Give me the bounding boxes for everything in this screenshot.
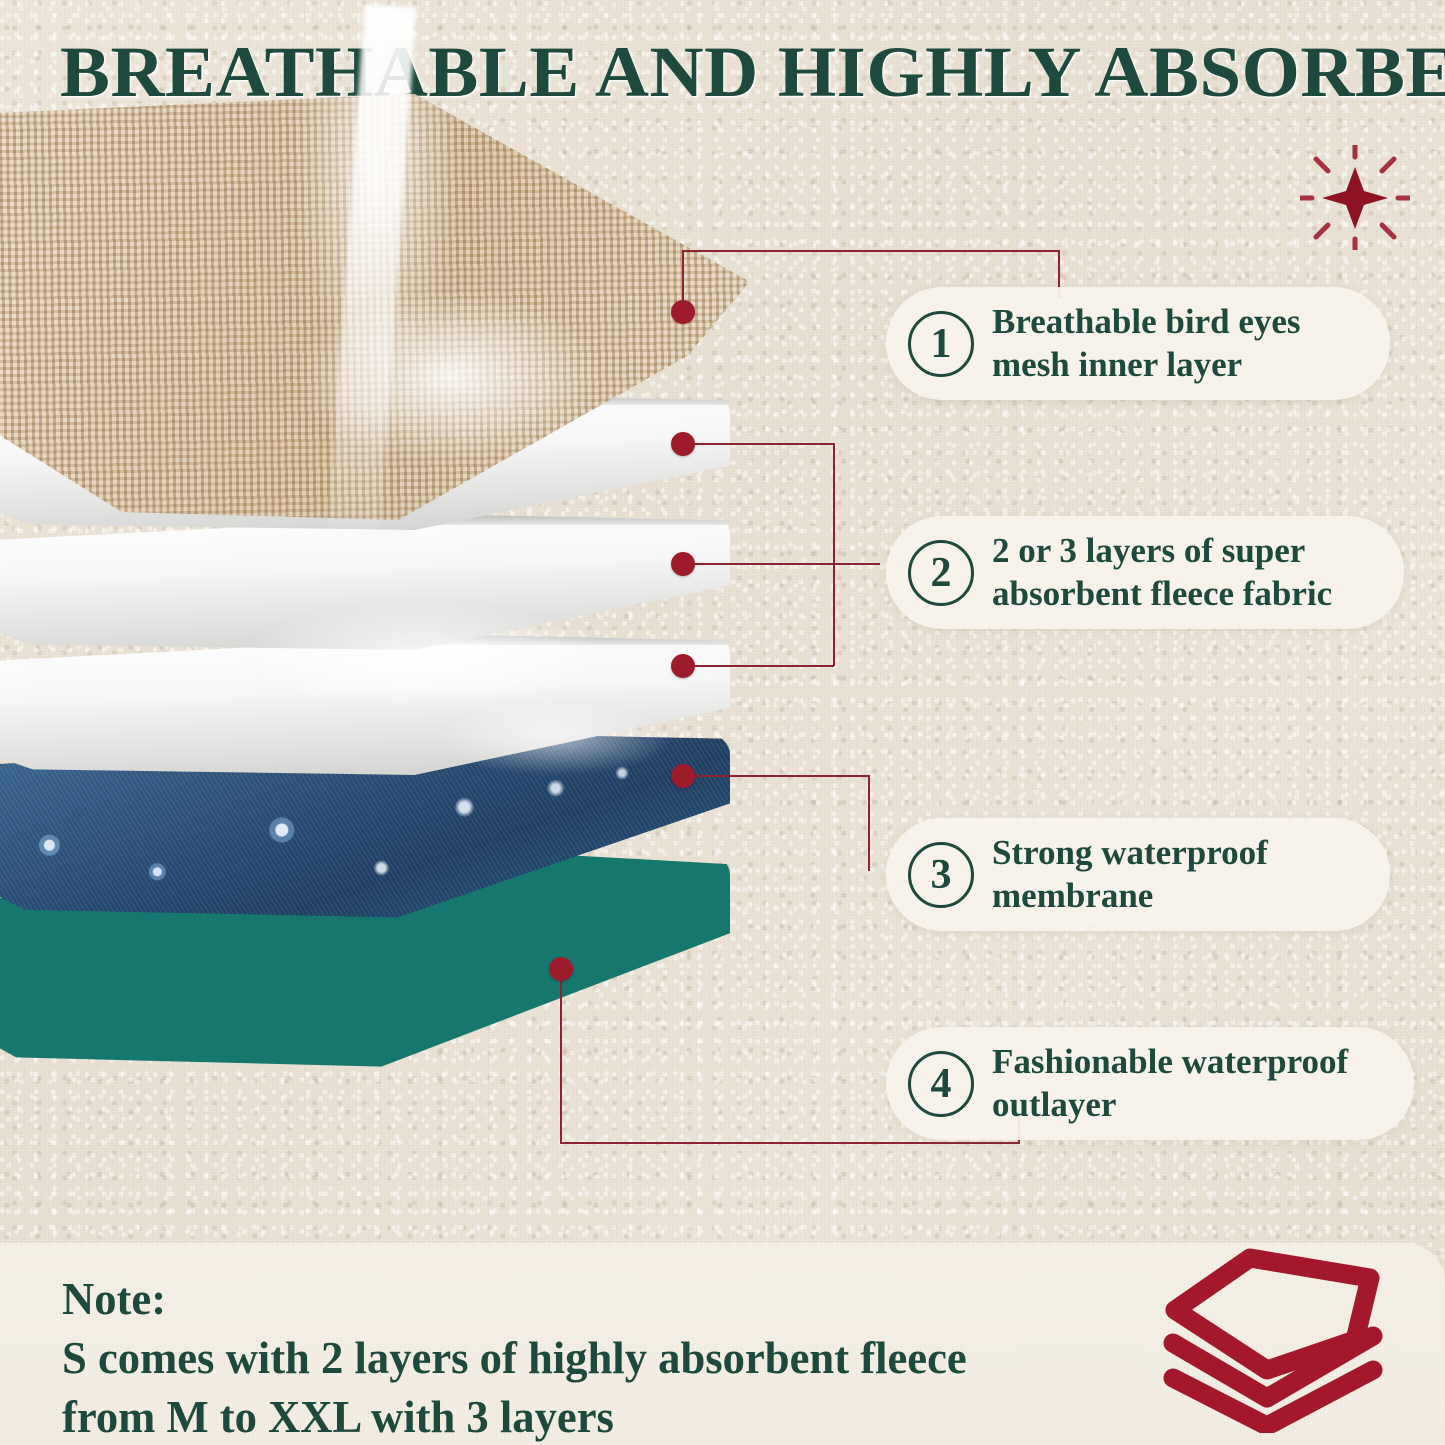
sparkle-icon [1300,145,1410,250]
connector-dot-2c [671,654,695,678]
connector-3-vertical [868,775,870,871]
connector-dot-3 [671,764,695,788]
connector-3-horizontal [690,775,870,777]
layers-stack-icon [1155,1248,1425,1433]
infographic-canvas: BREATHABLE AND HIGHLY ABSORBENT [0,0,1445,1445]
connector-2-middle [690,563,880,565]
connector-dot-2a [671,432,695,456]
connector-2-top [690,443,834,445]
callout-3-number: 3 [908,842,974,908]
water-splash [190,565,710,795]
callout-2-label: 2 or 3 layers of super absorbent fleece … [992,530,1332,615]
callout-3-label: Strong waterproof membrane [992,832,1268,917]
connector-dot-4 [549,957,573,981]
callout-1-label: Breathable bird eyes mesh inner layer [992,301,1301,386]
connector-2-spine [833,443,835,666]
connector-1-horizontal [682,250,1060,252]
connector-dot-2b [671,552,695,576]
callout-1[interactable]: 1 Breathable bird eyes mesh inner layer [886,287,1390,400]
note-text: Note: S comes with 2 layers of highly ab… [62,1270,1081,1445]
connector-4-horizontal [560,1142,1020,1144]
callout-2[interactable]: 2 2 or 3 layers of super absorbent fleec… [886,516,1404,629]
product-layer-illustration [0,95,800,1155]
connector-dot-1 [671,300,695,324]
callout-1-number: 1 [908,311,974,377]
callout-2-number: 2 [908,540,974,606]
callout-4-number: 4 [908,1051,974,1117]
callout-4[interactable]: 4 Fashionable waterproof outlayer [886,1027,1414,1140]
connector-2-bottom [690,665,834,667]
callout-4-label: Fashionable waterproof outlayer [992,1041,1348,1126]
callout-3[interactable]: 3 Strong waterproof membrane [886,818,1390,931]
connector-4-vertical [560,968,562,1144]
